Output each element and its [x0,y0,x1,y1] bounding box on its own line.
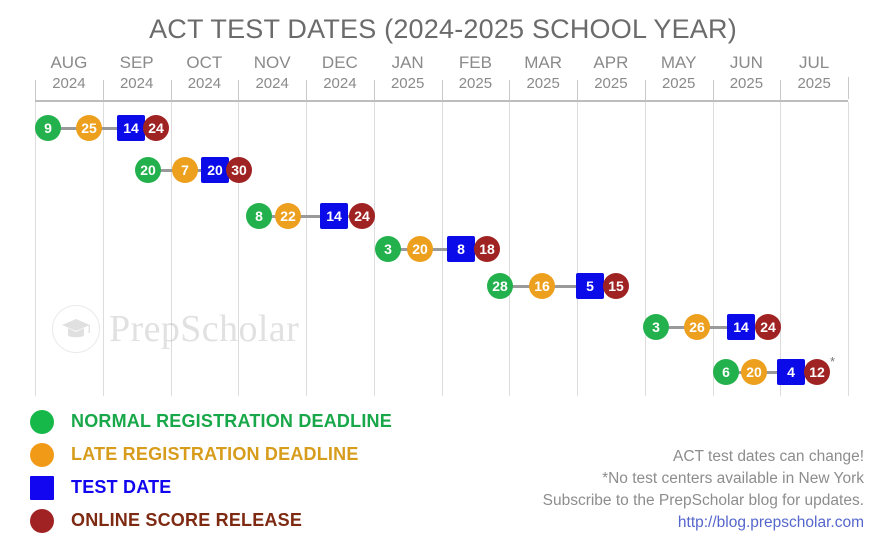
grid-line [171,102,172,396]
legend-item-score: ONLINE SCORE RELEASE [30,504,460,537]
month-year: 2024 [238,73,306,94]
timeline-marker-normal: 8 [246,203,272,229]
footer-notes: ACT test dates can change! *No test cent… [543,446,864,534]
month-column-dec: DEC2024 [306,52,374,100]
timeline-marker-late: 25 [76,115,102,141]
legend-item-normal: NORMAL REGISTRATION DEADLINE [30,405,460,438]
legend-label-score: ONLINE SCORE RELEASE [71,510,302,531]
timeline-marker-late: 20 [741,359,767,385]
timeline-marker-test: 8 [447,236,475,262]
footer-line-3: Subscribe to the PrepScholar blog for up… [543,490,864,512]
month-column-nov: NOV2024 [238,52,306,100]
month-name: APR [577,52,645,73]
month-axis-header: AUG2024SEP2024OCT2024NOV2024DEC2024JAN20… [35,52,848,100]
month-year: 2025 [442,73,510,94]
timeline-marker-test: 14 [727,314,755,340]
page-title: ACT TEST DATES (2024-2025 SCHOOL YEAR) [0,14,886,45]
grid-line [848,102,849,396]
legend: NORMAL REGISTRATION DEADLINELATE REGISTR… [30,405,460,537]
grid-line [35,102,36,396]
timeline-marker-late: 20 [407,236,433,262]
timeline-marker-test: 20 [201,157,229,183]
act-test-dates-infographic: ACT TEST DATES (2024-2025 SCHOOL YEAR) A… [0,0,886,550]
month-year: 2024 [103,73,171,94]
timeline-marker-late: 16 [529,273,555,299]
month-name: FEB [442,52,510,73]
timeline-marker-score: 24 [143,115,169,141]
timeline-marker-normal: 3 [375,236,401,262]
month-column-mar: MAR2025 [509,52,577,100]
month-column-jul: JUL2025 [780,52,848,100]
month-year: 2024 [171,73,239,94]
timeline-marker-score: 15 [603,273,629,299]
timeline-marker-test: 14 [320,203,348,229]
grid-line [713,102,714,396]
timeline-marker-test: 4 [777,359,805,385]
grid-line [306,102,307,396]
timeline-marker-normal: 9 [35,115,61,141]
legend-item-late: LATE REGISTRATION DEADLINE [30,438,460,471]
timeline-marker-score: 30 [226,157,252,183]
timeline-marker-score: 24 [349,203,375,229]
legend-label-late: LATE REGISTRATION DEADLINE [71,444,359,465]
month-column-jun: JUN2025 [713,52,781,100]
grid-line [780,102,781,396]
month-year: 2025 [374,73,442,94]
legend-swatch-normal [30,410,54,434]
month-name: MAR [509,52,577,73]
legend-label-test: TEST DATE [71,477,171,498]
timeline-marker-score: 24 [755,314,781,340]
month-name: JUN [713,52,781,73]
timeline-plot-area: 9251424207203082214243208182816515326142… [35,102,848,396]
footnote-asterisk: * [830,355,835,368]
legend-swatch-test [30,476,54,500]
month-name: MAY [645,52,713,73]
timeline-marker-test: 5 [576,273,604,299]
axis-end-tick [848,77,849,99]
legend-swatch-late [30,443,54,467]
month-column-aug: AUG2024 [35,52,103,100]
month-name: AUG [35,52,103,73]
month-name: DEC [306,52,374,73]
month-name: NOV [238,52,306,73]
month-column-oct: OCT2024 [171,52,239,100]
month-year: 2024 [35,73,103,94]
timeline-connector [553,285,578,288]
timeline-marker-test: 14 [117,115,145,141]
month-year: 2025 [645,73,713,94]
month-year: 2024 [306,73,374,94]
month-name: JAN [374,52,442,73]
legend-swatch-score [30,509,54,533]
timeline-marker-late: 22 [275,203,301,229]
grid-line [103,102,104,396]
grid-line [238,102,239,396]
legend-item-test: TEST DATE [30,471,460,504]
timeline-marker-score: 18 [474,236,500,262]
month-year: 2025 [577,73,645,94]
month-column-sep: SEP2024 [103,52,171,100]
legend-label-normal: NORMAL REGISTRATION DEADLINE [71,411,392,432]
timeline-marker-normal: 20 [135,157,161,183]
month-year: 2025 [509,73,577,94]
grid-line [645,102,646,396]
timeline-connector [511,285,531,288]
month-column-feb: FEB2025 [442,52,510,100]
month-year: 2025 [780,73,848,94]
month-name: JUL [780,52,848,73]
footer-line-1: ACT test dates can change! [543,446,864,468]
grid-line [509,102,510,396]
timeline-marker-normal: 6 [713,359,739,385]
timeline-marker-late: 26 [684,314,710,340]
month-year: 2025 [713,73,781,94]
timeline-marker-normal: 3 [643,314,669,340]
prepscholar-blog-link[interactable]: http://blog.prepscholar.com [543,512,864,534]
timeline-marker-score: 12 [804,359,830,385]
month-column-jan: JAN2025 [374,52,442,100]
month-name: OCT [171,52,239,73]
month-column-apr: APR2025 [577,52,645,100]
timeline-connector [299,215,322,218]
month-name: SEP [103,52,171,73]
timeline-connector [708,326,729,329]
grid-line [577,102,578,396]
month-column-may: MAY2025 [645,52,713,100]
timeline-marker-late: 7 [172,157,198,183]
timeline-marker-normal: 28 [487,273,513,299]
footer-line-2: *No test centers available in New York [543,468,864,490]
